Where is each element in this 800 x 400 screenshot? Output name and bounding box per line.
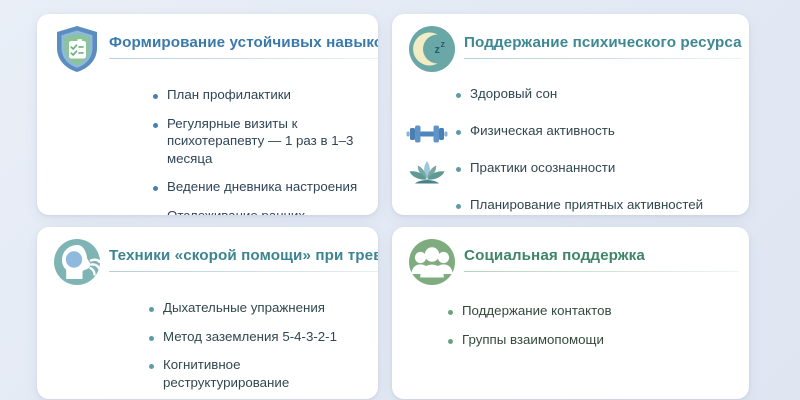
bullet-dot (448, 310, 453, 315)
bullet-dot (456, 130, 461, 135)
title-underline (109, 271, 378, 272)
bullet-dot (153, 123, 158, 128)
list-item: Практики осознанности (404, 159, 737, 183)
cards-grid: Формирование устойчивых навыков План про… (37, 14, 746, 399)
list-item: Ведение дневника настроения (153, 178, 366, 196)
card-social-support: Социальная поддержка Поддержание контакт… (392, 227, 749, 399)
list-item: Группы взаимопомощи (448, 331, 737, 349)
bullet-list: Дыхательные упражнения Метод заземления … (37, 288, 378, 391)
list-item-label: Практики осознанности (470, 159, 615, 177)
bullet-dot (153, 186, 158, 191)
people-group-icon (406, 236, 458, 288)
bullet-list: Поддержание контактов Группы взаимопомощ… (392, 288, 749, 348)
bullet-dot (153, 94, 158, 99)
list-item: Метод заземления 5-4-3-2-1 (149, 328, 366, 346)
list-item-label: Физическая активность (470, 122, 615, 140)
bullet-dot (456, 93, 461, 98)
moon-sleep-icon: z z (406, 23, 458, 75)
card-title: Формирование устойчивых навыков (109, 34, 378, 51)
title-underline (464, 271, 739, 272)
card-title-wrap: Техники «скорой помощи» при тревоге (109, 247, 378, 276)
list-item-label: План профилактики (167, 86, 291, 104)
bullet-dot (149, 307, 154, 312)
card-emergency-techniques: Техники «скорой помощи» при тревоге Дыха… (37, 227, 378, 399)
list-item-icon-slot (404, 196, 450, 215)
card-header: Техники «скорой помощи» при тревоге (37, 227, 378, 288)
head-breathing-icon (51, 236, 103, 288)
list-item-label: Дыхательные упражнения (163, 299, 325, 317)
card-header: z z Поддержание психического ресурса (392, 14, 749, 75)
list-item: Дыхательные упражнения (149, 299, 366, 317)
title-underline (109, 58, 378, 59)
card-header: Социальная поддержка (392, 227, 749, 288)
shield-checklist-icon (51, 23, 103, 75)
list-item: Отслеживание ранних признаков ухудшения (153, 207, 366, 215)
list-item: Регулярные визиты к психотерапевту — 1 р… (153, 115, 366, 168)
infographic-board: Формирование устойчивых навыков План про… (0, 0, 800, 400)
card-header: Формирование устойчивых навыков (37, 14, 378, 75)
list-item-label: Метод заземления 5-4-3-2-1 (163, 328, 337, 346)
bullet-dot (149, 336, 154, 341)
list-item: Когнитивное реструктурирование (149, 356, 366, 391)
bullet-list: Здоровый сон (392, 75, 749, 215)
card-title-wrap: Социальная поддержка (464, 247, 739, 276)
list-item-label: Ведение дневника настроения (167, 178, 357, 196)
title-underline (464, 58, 742, 59)
card-skills: Формирование устойчивых навыков План про… (37, 14, 378, 215)
bullet-dot (456, 204, 461, 209)
list-item-label: Планирование приятных активностей (470, 196, 703, 214)
list-item-label: Группы взаимопомощи (462, 331, 604, 349)
bullet-dot (456, 167, 461, 172)
bullet-list: План профилактики Регулярные визиты к пс… (37, 75, 378, 215)
bullet-dot (448, 339, 453, 344)
list-item: План профилактики (153, 86, 366, 104)
list-item-label: Когнитивное реструктурирование (163, 356, 366, 391)
card-title-wrap: Поддержание психического ресурса (464, 34, 742, 63)
list-item: Поддержание контактов (448, 302, 737, 320)
card-title: Социальная поддержка (464, 247, 739, 264)
card-mental-resource: z z Поддержание психического ресурса Здо… (392, 14, 749, 215)
lotus-icon (404, 159, 450, 183)
list-item: Здоровый сон (404, 85, 737, 109)
bullet-dot (149, 364, 154, 369)
list-item-label: Отслеживание ранних признаков ухудшения (167, 207, 366, 215)
list-item: Физическая активность (404, 122, 737, 146)
card-title: Поддержание психического ресурса (464, 34, 742, 51)
list-item-label: Поддержание контактов (462, 302, 612, 320)
card-title-wrap: Формирование устойчивых навыков (109, 34, 378, 63)
list-item-label: Здоровый сон (470, 85, 557, 103)
list-item-label: Регулярные визиты к психотерапевту — 1 р… (167, 115, 366, 168)
dumbbell-icon (404, 122, 450, 146)
card-title: Техники «скорой помощи» при тревоге (109, 247, 378, 264)
list-item-icon-slot (404, 85, 450, 109)
list-item: Планирование приятных активностей (404, 196, 737, 215)
svg-text:z: z (441, 39, 446, 49)
